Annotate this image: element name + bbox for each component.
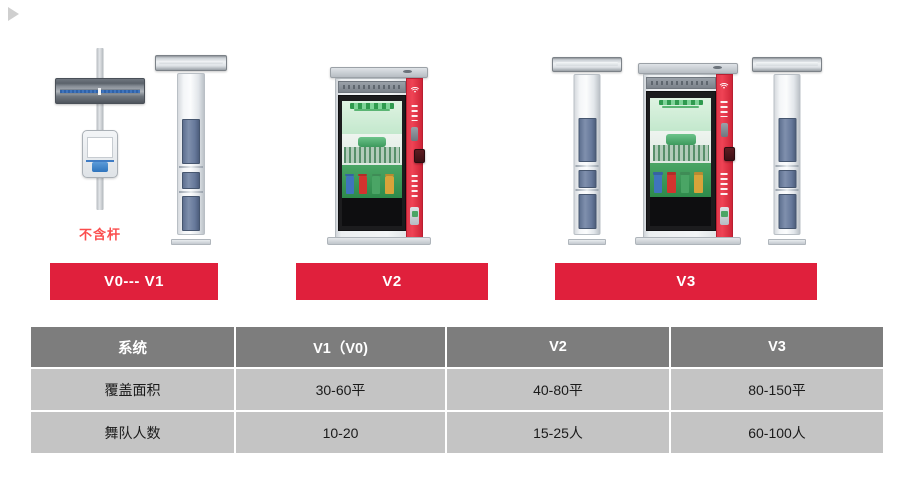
- v2-red-panel-text-lower: [411, 175, 418, 197]
- v2-screen-bus-art: [358, 137, 387, 147]
- v1-column-body: [177, 73, 205, 235]
- v3l-panel-middle: [578, 170, 596, 187]
- v3-payment-module[interactable]: [720, 207, 730, 225]
- v2-plinth: [327, 237, 431, 245]
- v3-screen-crowd-art: [653, 145, 709, 162]
- v3l-panel-upper: [578, 118, 596, 163]
- v2-bin-green: [372, 176, 380, 194]
- v0-speaker-bar: [55, 78, 145, 104]
- v3-screen-subtitle-art: [662, 106, 699, 108]
- banner-v2[interactable]: V2: [296, 263, 488, 300]
- banner-v3[interactable]: V3: [555, 263, 817, 300]
- v3l-column-body: [574, 74, 601, 235]
- v1-panel-lower: [182, 196, 201, 231]
- v3-bin-red: [667, 174, 676, 193]
- v3r-base: [768, 239, 806, 245]
- v1-top-speaker-bar: [155, 55, 227, 71]
- cell-coverage-v1: 30-60平: [236, 369, 445, 410]
- v3-red-side-panel: [716, 74, 733, 238]
- v2-screen-frame[interactable]: [338, 95, 407, 231]
- product-v1: [152, 55, 230, 245]
- banner-v0-v1[interactable]: V0--- V1: [50, 263, 218, 300]
- v2-screen-title-art: [350, 103, 393, 108]
- v2-bin-blue: [346, 176, 354, 194]
- v0-controller-line: [86, 160, 113, 162]
- v2-canopy: [330, 67, 429, 78]
- v3l-seam-upper: [576, 165, 599, 167]
- v0-controller-screen: [87, 137, 113, 158]
- play-triangle-icon[interactable]: [8, 7, 19, 21]
- v1-seam-lower: [179, 191, 203, 193]
- row-label-coverage: 覆盖面积: [31, 369, 234, 410]
- v2-screen-lower-black: [342, 198, 402, 226]
- v3r-column-body: [774, 74, 801, 235]
- v3-screen-recycling-panel: [650, 163, 711, 197]
- row-label-team-size: 舞队人数: [31, 412, 234, 453]
- v3-canopy: [638, 63, 739, 74]
- v2-vent-grille: [338, 81, 407, 93]
- v2-payment-module[interactable]: [410, 207, 419, 225]
- v3-dispenser-slot: [724, 147, 735, 161]
- v0-pole: [97, 48, 104, 210]
- v3-bin-yellow: [694, 174, 703, 193]
- v3l-panel-lower: [578, 194, 596, 229]
- v3-screen-bus-art: [666, 134, 695, 145]
- v3-plinth: [635, 237, 741, 245]
- spec-comparison-table: 系统 V1（V0) V2 V3 覆盖面积 30-60平 40-80平 80-15…: [29, 325, 885, 455]
- v2-dispenser-slot: [414, 149, 425, 163]
- product-v2: [335, 67, 423, 245]
- table-row: 覆盖面积 30-60平 40-80平 80-150平: [31, 369, 883, 410]
- v3r-panel-lower: [778, 194, 796, 229]
- table-row: 舞队人数 10-20 15-25人 60-100人: [31, 412, 883, 453]
- table-header-v3: V3: [671, 327, 883, 367]
- table-header-row: 系统 V1（V0) V2 V3: [31, 327, 883, 367]
- v0-controller-box: [82, 130, 118, 178]
- v2-screen-header-art: [342, 101, 402, 134]
- product-v3-kiosk: [643, 63, 733, 245]
- cell-team-size-v3: 60-100人: [671, 412, 883, 453]
- cell-coverage-v3: 80-150平: [671, 369, 883, 410]
- v3-display-screen[interactable]: [650, 98, 711, 197]
- v3-camera-icon: [713, 66, 722, 70]
- cell-team-size-v2: 15-25人: [447, 412, 669, 453]
- v2-screen-subtitle-art: [354, 109, 390, 111]
- v1-panel-middle: [182, 172, 201, 190]
- v2-camera-icon: [403, 70, 412, 74]
- table-header-system: 系统: [31, 327, 234, 367]
- v2-bin-yellow: [385, 176, 393, 194]
- v3-bin-green: [681, 174, 690, 193]
- v2-screen-crowd-art: [344, 147, 399, 163]
- v2-red-side-panel: [406, 78, 423, 238]
- v3-screen-header-art: [650, 98, 711, 132]
- v3-red-module: [721, 123, 729, 137]
- v3-screen-title-art: [659, 100, 703, 105]
- v3-screen-frame[interactable]: [646, 91, 716, 231]
- page-root: 不含杆: [0, 0, 900, 485]
- v1-panel-upper: [182, 119, 201, 164]
- wifi-icon: [410, 87, 419, 93]
- v3l-seam-lower: [576, 189, 599, 191]
- v2-screen-scene-art: [342, 134, 402, 165]
- v1-base: [171, 239, 211, 245]
- v3r-seam-upper: [776, 165, 799, 167]
- product-v0: 不含杆: [55, 40, 145, 245]
- cell-team-size-v1: 10-20: [236, 412, 445, 453]
- v3r-panel-upper: [778, 118, 796, 163]
- table-header-v2: V2: [447, 327, 669, 367]
- v0-controller-button: [92, 162, 108, 172]
- v3-vent-grille: [646, 77, 716, 89]
- v3-screen-lower-black: [650, 197, 711, 226]
- v3-bin-blue: [654, 174, 663, 193]
- product-v3-left-column: [548, 57, 626, 245]
- product-v3-right-column: [748, 57, 826, 245]
- v2-screen-recycling-panel: [342, 165, 402, 198]
- wifi-icon: [720, 83, 729, 90]
- v3l-base: [568, 239, 606, 245]
- v3r-seam-lower: [776, 189, 799, 191]
- v1-seam-upper: [179, 166, 203, 168]
- v3r-panel-middle: [778, 170, 796, 187]
- v0-note-label: 不含杆: [55, 224, 145, 243]
- v2-bin-red: [359, 176, 367, 194]
- v3-screen-scene-art: [650, 131, 711, 163]
- v3-red-panel-text: [721, 101, 728, 117]
- cell-coverage-v2: 40-80平: [447, 369, 669, 410]
- v0-speaker-grille: [60, 89, 139, 94]
- table-header-v1: V1（V0): [236, 327, 445, 367]
- v2-red-module: [411, 127, 419, 141]
- v2-display-screen[interactable]: [342, 101, 402, 197]
- v2-red-panel-text: [411, 105, 418, 121]
- v3r-top-speaker-bar: [752, 57, 822, 72]
- v3l-top-speaker-bar: [552, 57, 622, 72]
- product-illustration-stage: 不含杆: [0, 40, 900, 245]
- v3-red-panel-text-lower: [721, 173, 728, 195]
